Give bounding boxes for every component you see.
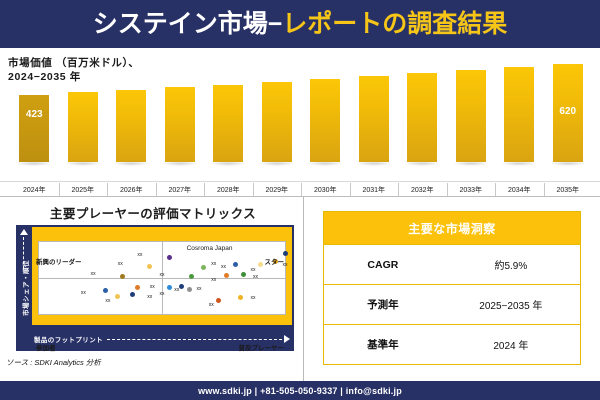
key-insights-table: 主要な市場洞察 CAGR約5.9%予測年2025−2035 年基準年2024 年	[323, 211, 581, 365]
chart-plot-area: 423620	[10, 54, 592, 176]
bar	[359, 76, 389, 162]
x-axis-tick-label: 2035年	[544, 185, 593, 195]
matrix-data-point	[216, 298, 221, 303]
x-axis-tick-label: 2026年	[107, 185, 156, 195]
x-axis-dashed-line	[107, 339, 282, 340]
x-axis-tick-label: 2029年	[253, 185, 302, 195]
matrix-data-point	[187, 287, 192, 292]
matrix-data-point	[189, 274, 194, 279]
bar	[68, 92, 98, 162]
matrix-data-point	[258, 262, 263, 267]
matrix-data-point	[224, 273, 229, 278]
insight-value: 2025−2035 年	[442, 297, 580, 312]
bar-column	[504, 40, 534, 162]
bar-value-label: 423	[19, 109, 49, 120]
player-matrix-panel: 主要プレーヤーの評価マトリックス 市場シェア・順位 Cosroma Japanx…	[2, 197, 304, 381]
matrix-point-label: xx	[137, 252, 142, 258]
matrix-data-point	[241, 272, 246, 277]
bar-column: 423	[19, 40, 49, 162]
bar: 620	[553, 64, 583, 162]
table-row: 基準年2024 年	[324, 324, 580, 364]
insight-value: 約5.9%	[442, 257, 580, 272]
bar-column	[116, 40, 146, 162]
matrix-point-label: xx	[209, 302, 214, 308]
matrix-point-label: xx	[118, 261, 123, 267]
matrix-data-point	[115, 294, 120, 299]
matrix-point-label: xx	[150, 284, 155, 290]
matrix-point-label: xx	[253, 274, 258, 280]
page-title-accent: レポートの調査結果	[282, 10, 507, 38]
bar	[456, 70, 486, 162]
bar-column	[213, 40, 243, 162]
matrix-data-point	[283, 251, 288, 256]
x-axis-tick-label: 2030年	[301, 185, 350, 195]
key-insights-panel: 主要な市場洞察 CAGR約5.9%予測年2025−2035 年基準年2024 年	[305, 197, 600, 381]
key-insights-rows: CAGR約5.9%予測年2025−2035 年基準年2024 年	[324, 244, 580, 364]
bar	[116, 90, 146, 162]
matrix-data-point	[201, 265, 206, 270]
x-axis-tick-label: 2024年	[10, 185, 59, 195]
infographic-page: システイン市場−レポートの調査結果 市場価値 （百万米ドル）、 2024−203…	[0, 0, 600, 400]
matrix-point-label: xx	[211, 261, 216, 267]
matrix-data-point	[135, 285, 140, 290]
x-axis-tick-label: 2032年	[398, 185, 447, 195]
x-axis-tick-label: 2028年	[204, 185, 253, 195]
page-title: システイン市場−レポートの調査結果	[93, 12, 508, 37]
table-row: 予測年2025−2035 年	[324, 284, 580, 324]
matrix-point-label: xx	[196, 286, 201, 292]
key-insights-title: 主要な市場洞察	[324, 212, 580, 244]
bar	[407, 73, 437, 162]
quadrant-label-stars: スター	[265, 256, 285, 266]
x-axis-tick-label: 2033年	[447, 185, 496, 195]
matrix-point-label: xx	[91, 271, 96, 277]
matrix-point-label: xx	[105, 298, 110, 304]
matrix-data-point	[130, 292, 135, 297]
matrix-quadrant-backdrop: Cosroma Japanxxxxxxxxxxxxxxxxxxxxxxxxxxx…	[32, 227, 292, 325]
bar: 423	[19, 95, 49, 162]
bar-column	[68, 40, 98, 162]
matrix-point-label: xx	[81, 290, 86, 296]
matrix-data-point	[147, 264, 152, 269]
y-axis-label-wrap: 市場シェア・順位	[18, 227, 32, 349]
matrix-scatter-area: Cosroma Japanxxxxxxxxxxxxxxxxxxxxxxxxxxx…	[38, 241, 286, 315]
bar	[262, 82, 292, 162]
bar	[165, 87, 195, 162]
insight-label: 基準年	[324, 337, 442, 352]
footer-contact: www.sdki.jp | +81-505-050-9337 | info@sd…	[198, 386, 402, 396]
matrix-data-point	[238, 295, 243, 300]
page-title-primary: システイン市場−	[93, 10, 283, 38]
bar	[213, 85, 243, 162]
lower-section: 主要プレーヤーの評価マトリックス 市場シェア・順位 Cosroma Japanx…	[0, 197, 600, 381]
bar-column	[165, 40, 195, 162]
highlighted-company-label: Cosroma Japan	[187, 245, 233, 252]
x-axis-label-wrap: 製品のフットプリント	[32, 331, 290, 347]
matrix-point-label: xx	[251, 267, 256, 273]
matrix-point-label: xx	[174, 287, 179, 293]
quadrant-label-emerging-leaders: 新興のリーダー	[36, 256, 82, 266]
bar	[504, 67, 534, 162]
table-row: CAGR約5.9%	[324, 244, 580, 284]
x-axis-label: 製品のフットプリント	[32, 334, 103, 344]
matrix-data-point	[167, 255, 172, 260]
bar-column	[359, 40, 389, 162]
chart-x-axis-labels: 2024年2025年2026年2027年2028年2029年2030年2031年…	[10, 182, 592, 196]
bar-column	[456, 40, 486, 162]
y-axis-label: 市場シェア・順位	[20, 260, 30, 316]
bar-column	[310, 40, 340, 162]
matrix-data-point	[103, 288, 108, 293]
matrix-data-point	[179, 284, 184, 289]
footer-banner: www.sdki.jp | +81-505-050-9337 | info@sd…	[0, 381, 600, 400]
bar-column	[262, 40, 292, 162]
matrix-data-point	[120, 274, 125, 279]
matrix-data-point	[233, 262, 238, 267]
x-axis-tick-label: 2025年	[59, 185, 108, 195]
x-axis-tick-label: 2034年	[495, 185, 544, 195]
bar-column: 620	[553, 40, 583, 162]
insight-label: CAGR	[324, 259, 442, 271]
x-axis-tick-label: 2031年	[350, 185, 399, 195]
matrix-data-point	[167, 285, 172, 290]
bar-value-label: 620	[553, 106, 583, 117]
market-value-chart: 市場価値 （百万米ドル）、 2024−2035 年 423620 2024年20…	[0, 48, 600, 196]
matrix-point-label: xx	[147, 294, 152, 300]
x-axis-arrow-icon	[284, 335, 290, 343]
matrix-point-label: xx	[211, 277, 216, 283]
bar-column	[407, 40, 437, 162]
matrix-point-label: xx	[221, 264, 226, 270]
matrix-frame: 市場シェア・順位 Cosroma Japanxxxxxxxxxxxxxxxxxx…	[16, 225, 294, 351]
insight-label: 予測年	[324, 297, 442, 312]
x-axis-tick-label: 2027年	[156, 185, 205, 195]
bar	[310, 79, 340, 162]
source-note: ソース : SDKI Analytics 分析	[6, 357, 101, 368]
matrix-point-label: xx	[160, 272, 165, 278]
insight-value: 2024 年	[442, 337, 580, 352]
matrix-point-label: xx	[160, 291, 165, 297]
matrix-title: 主要プレーヤーの評価マトリックス	[2, 203, 304, 222]
matrix-point-label: xx	[251, 295, 256, 301]
